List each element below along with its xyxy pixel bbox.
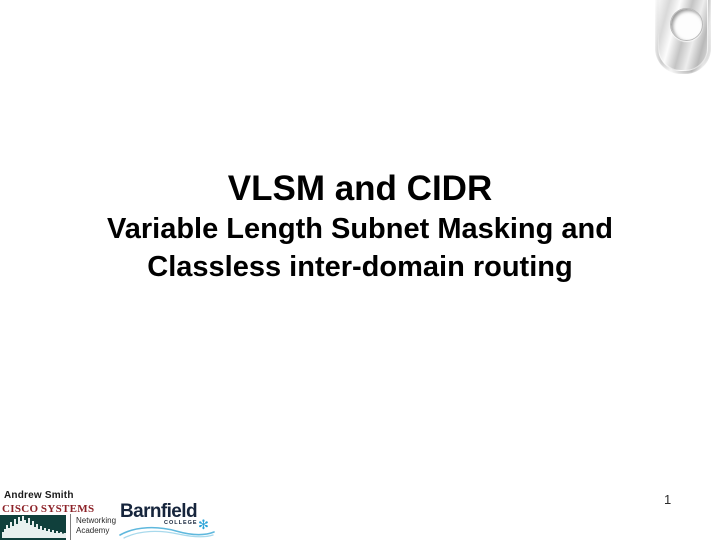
cisco-networking-academy-logo: CISCO SYSTEMS ® Networking Academy xyxy=(0,503,128,540)
networking-academy-line-1: Networking xyxy=(76,516,116,526)
page-subtitle-line-2: Classless inter-domain routing xyxy=(60,248,660,286)
emblem-inner-plate xyxy=(658,0,708,71)
barnfield-college-logo: Barnfield COLLEGE ✻ xyxy=(118,501,218,540)
page-number: 1 xyxy=(664,492,671,507)
networking-academy-line-2: Academy xyxy=(76,526,116,536)
logo-divider xyxy=(70,514,71,540)
networking-academy-label: Networking Academy xyxy=(76,516,116,535)
slide-canvas: VLSM and CIDR Variable Length Subnet Mas… xyxy=(0,0,720,540)
emblem-hole-icon xyxy=(670,8,703,41)
cisco-bridge-bar xyxy=(64,533,66,538)
author-name: Andrew Smith xyxy=(4,490,74,501)
cisco-systems-wordmark: CISCO SYSTEMS xyxy=(2,503,94,515)
page-title: VLSM and CIDR xyxy=(60,168,660,210)
title-block: VLSM and CIDR Variable Length Subnet Mas… xyxy=(60,168,660,286)
metallic-shield-emblem xyxy=(655,0,711,74)
page-subtitle-line-1: Variable Length Subnet Masking and xyxy=(60,210,660,248)
cisco-wordmark-systems: SYSTEMS xyxy=(41,503,94,515)
barnfield-wave-icon xyxy=(118,523,216,539)
cisco-bridge-graphic: ® xyxy=(0,515,66,540)
cisco-wordmark-cisco: CISCO xyxy=(2,503,38,515)
